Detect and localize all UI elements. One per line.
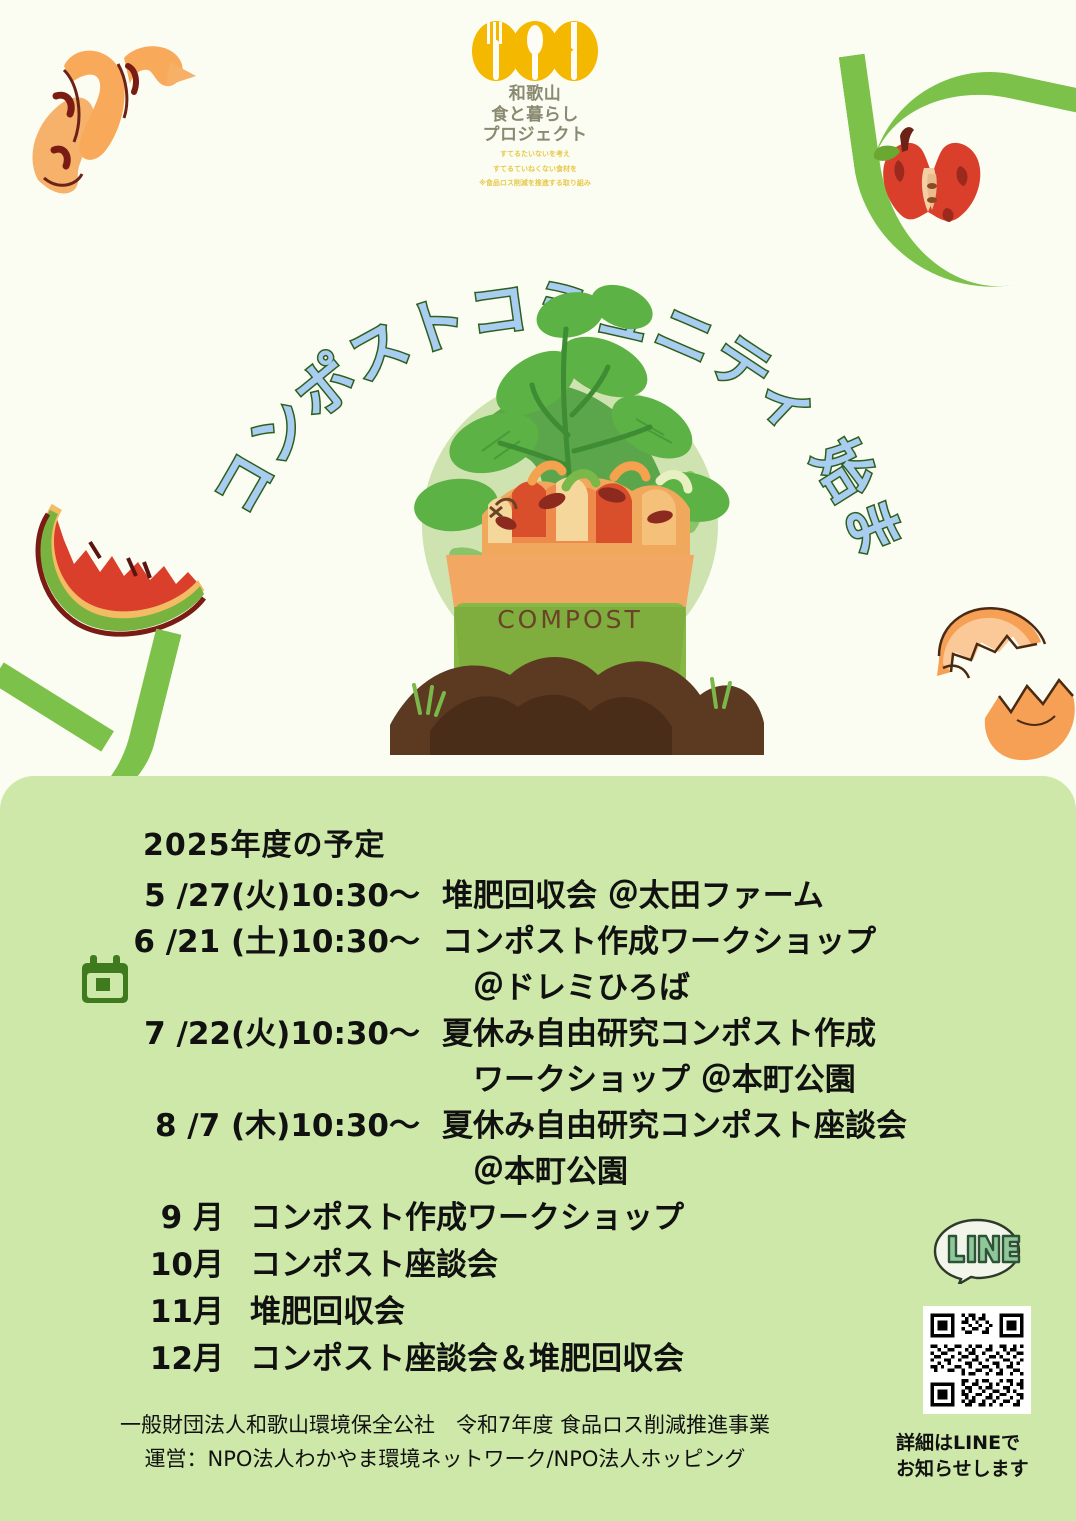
line-logo-icon[interactable] xyxy=(931,1218,1023,1284)
month-title: コンポスト座談会＆堆肥回収会 xyxy=(250,1336,684,1383)
month-title: コンポスト作成ワークショップ xyxy=(250,1195,684,1242)
schedule-row: 8 /7 (木)10:30〜夏休み自由研究コンポスト座談会 xyxy=(0,1103,1076,1149)
schedule-title: コンポスト作成ワークショップ xyxy=(442,919,876,965)
month-label: 10月 xyxy=(120,1242,224,1289)
poster-canvas: 和歌山 食と暮らし プロジェクト すてるたいないを考え すてるていねくない食材を… xyxy=(0,0,1076,1521)
month-title: コンポスト座談会 xyxy=(250,1242,498,1289)
compost-bin-label: COMPOST xyxy=(360,605,780,634)
compost-bin-illustration xyxy=(360,255,780,755)
line-contact-block: 詳細はLINEで お知らせします xyxy=(888,1218,1066,1482)
schedule-title: 夏休み自由研究コンポスト座談会 xyxy=(442,1103,907,1149)
month-title: 堆肥回収会 xyxy=(250,1289,405,1336)
schedule-title: 夏休み自由研究コンポスト作成 xyxy=(442,1011,876,1057)
line-caption: 詳細はLINEで お知らせします xyxy=(888,1430,1066,1482)
fork-spoon-knife-icon xyxy=(470,18,600,84)
section-title: 2025年度の予定 xyxy=(143,820,386,864)
schedule-date: 7 /22(火)10:30〜 xyxy=(125,1011,420,1057)
logo-line-1: 和歌山 xyxy=(455,84,615,105)
schedule-continuation: ＠ドレミひろば xyxy=(0,965,1076,1011)
month-label: 11月 xyxy=(120,1289,224,1336)
logo-line-3: プロジェクト xyxy=(455,125,615,146)
schedule-title: 堆肥回収会 ＠太田ファーム xyxy=(442,873,824,919)
qr-code[interactable] xyxy=(923,1306,1031,1414)
schedule-date: 8 /7 (木)10:30〜 xyxy=(125,1103,420,1149)
credit-line-2: 運営：NPO法人わかやま環境ネットワーク/NPO法人ホッピング xyxy=(0,1442,890,1476)
schedule-row: 6 /21 (土)10:30〜コンポスト作成ワークショップ xyxy=(0,919,1076,965)
month-label: 12月 xyxy=(120,1336,224,1383)
schedule-row: 7 /22(火)10:30〜夏休み自由研究コンポスト作成 xyxy=(0,1011,1076,1057)
eggshell-icon xyxy=(925,600,1076,770)
schedule-date: 5 /27(火)10:30〜 xyxy=(125,873,420,919)
credit-line-1: 一般財団法人和歌山環境保全公社 令和7年度 食品ロス削減推進事業 xyxy=(0,1408,890,1442)
schedule-continuation: ワークショップ ＠本町公園 xyxy=(0,1057,1076,1103)
schedule-continuation: ＠本町公園 xyxy=(0,1149,1076,1195)
schedule-row: 5 /27(火)10:30〜堆肥回収会 ＠太田ファーム xyxy=(0,873,1076,919)
credits: 一般財団法人和歌山環境保全公社 令和7年度 食品ロス削減推進事業 運営：NPO法… xyxy=(0,1408,890,1476)
logo-line-2: 食と暮らし xyxy=(455,105,615,126)
line-caption-2: お知らせします xyxy=(896,1456,1066,1482)
line-caption-1: 詳細はLINEで xyxy=(896,1430,1066,1456)
schedule-date: 6 /21 (土)10:30〜 xyxy=(125,919,420,965)
month-label: 9 月 xyxy=(120,1195,224,1242)
